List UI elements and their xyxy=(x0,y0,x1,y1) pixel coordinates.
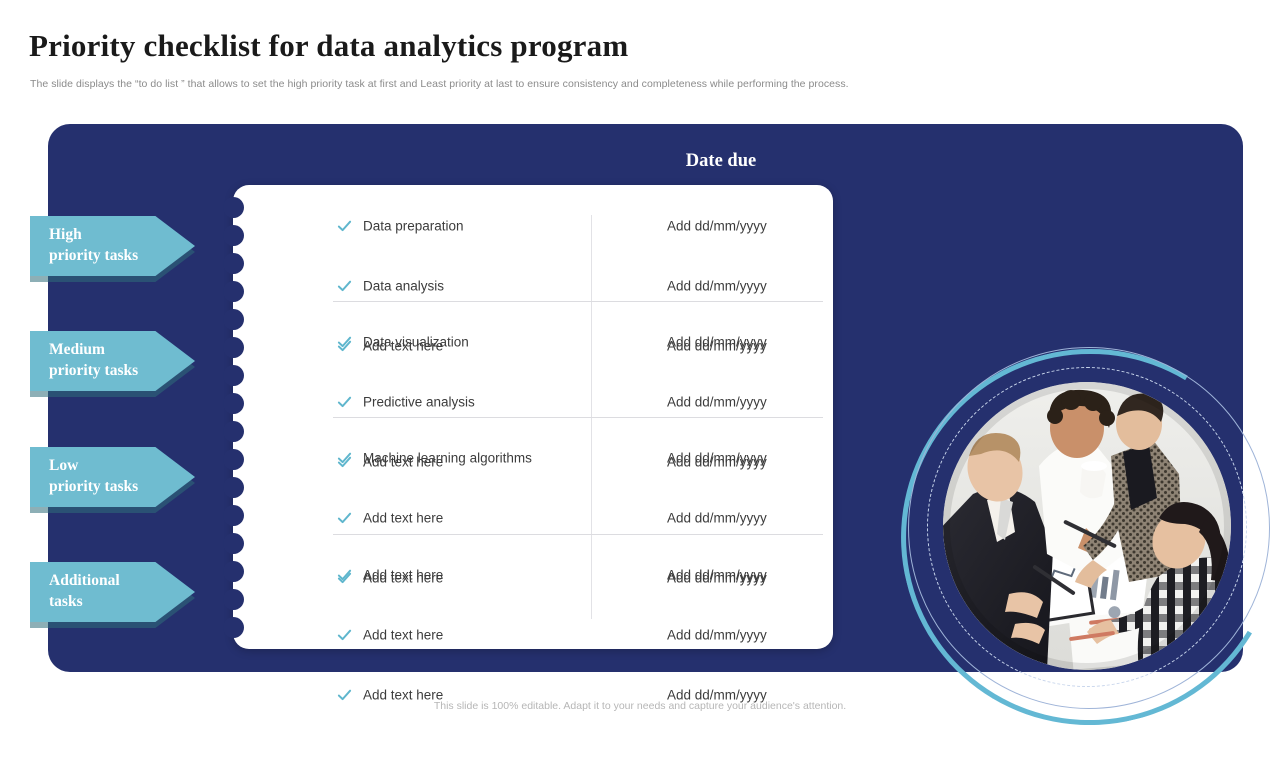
checklist-group: Data preparationAdd dd/mm/yyyyData analy… xyxy=(233,211,833,301)
scallop-notch xyxy=(223,421,244,442)
scallop-notch xyxy=(223,533,244,554)
checklist-group: Data visualizationAdd dd/mm/yyyyPredicti… xyxy=(233,327,833,417)
checklist-row[interactable]: Add text hereAdd dd/mm/yyyy xyxy=(233,560,833,590)
checkmark-icon[interactable] xyxy=(337,395,352,410)
date-due-value[interactable]: Add dd/mm/yyyy xyxy=(667,219,767,234)
checklist-row[interactable]: Add text hereAdd dd/mm/yyyy xyxy=(233,503,833,533)
task-label: Add text here xyxy=(363,628,443,643)
page-title: Priority checklist for data analytics pr… xyxy=(29,28,628,64)
date-due-column-header: Date due xyxy=(591,151,851,172)
page-subtitle: The slide displays the “to do list ” tha… xyxy=(30,78,849,90)
date-due-value[interactable]: Add dd/mm/yyyy xyxy=(667,279,767,294)
checklist-row[interactable]: Add text hereAdd dd/mm/yyyy xyxy=(233,620,833,650)
date-due-value[interactable]: Add dd/mm/yyyy xyxy=(667,451,767,466)
group-separator xyxy=(333,301,823,302)
date-due-value[interactable]: Add dd/mm/yyyy xyxy=(667,335,767,350)
checkmark-icon[interactable] xyxy=(337,279,352,294)
team-meeting-photo xyxy=(943,382,1231,670)
checkmark-icon[interactable] xyxy=(337,628,352,643)
checklist-row[interactable]: Data preparationAdd dd/mm/yyyy xyxy=(233,211,833,241)
task-label: Data visualization xyxy=(363,335,469,350)
checkmark-icon[interactable] xyxy=(337,451,352,466)
group-separator xyxy=(333,534,823,535)
checklist-card: Data preparationAdd dd/mm/yyyyData analy… xyxy=(233,185,833,649)
group-separator xyxy=(333,417,823,418)
checkmark-icon[interactable] xyxy=(337,335,352,350)
checkmark-icon[interactable] xyxy=(337,568,352,583)
checklist-group: Add text hereAdd dd/mm/yyyyAdd text here… xyxy=(233,560,833,650)
content-panel: Date due Data preparationAdd dd/mm/yyyyD… xyxy=(48,124,1243,672)
task-label: Add text here xyxy=(363,511,443,526)
date-due-value[interactable]: Add dd/mm/yyyy xyxy=(667,568,767,583)
footer-note: This slide is 100% editable. Adapt it to… xyxy=(0,700,1280,712)
date-due-value[interactable]: Add dd/mm/yyyy xyxy=(667,395,767,410)
task-label: Data preparation xyxy=(363,219,464,234)
task-label: Data analysis xyxy=(363,279,444,294)
photo-block xyxy=(893,339,1280,724)
checkmark-icon[interactable] xyxy=(337,219,352,234)
date-due-value[interactable]: Add dd/mm/yyyy xyxy=(667,628,767,643)
task-label: Machine learning algorithms xyxy=(363,451,532,466)
checklist-group: Machine learning algorithmsAdd dd/mm/yyy… xyxy=(233,443,833,533)
checklist-row[interactable]: Data visualizationAdd dd/mm/yyyy xyxy=(233,327,833,357)
task-label: Add text here xyxy=(363,568,443,583)
task-label: Predictive analysis xyxy=(363,395,475,410)
date-due-value[interactable]: Add dd/mm/yyyy xyxy=(667,511,767,526)
checkmark-icon[interactable] xyxy=(337,511,352,526)
checklist-row[interactable]: Data analysisAdd dd/mm/yyyy xyxy=(233,271,833,301)
checklist-row[interactable]: Predictive analysisAdd dd/mm/yyyy xyxy=(233,387,833,417)
checklist-row[interactable]: Machine learning algorithmsAdd dd/mm/yyy… xyxy=(233,443,833,473)
